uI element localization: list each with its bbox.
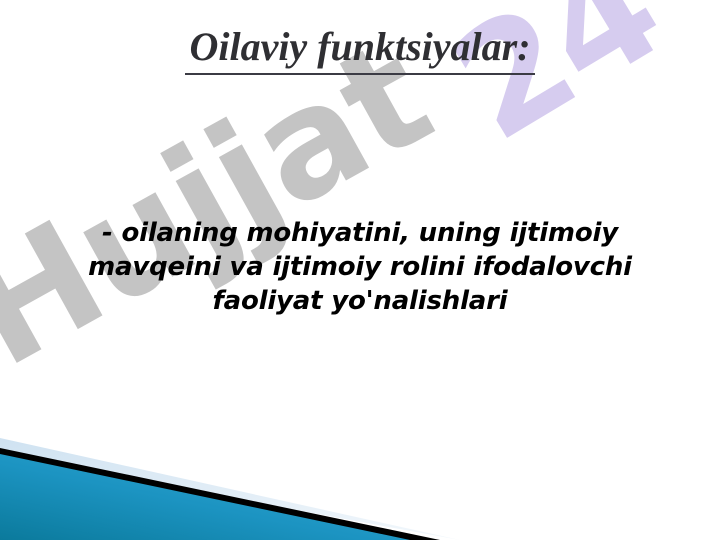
teal-triangle-shape	[0, 454, 410, 540]
slide-title: Oilaviy funktsiyalar:	[185, 26, 534, 75]
black-stripe-shape	[0, 448, 440, 540]
pale-band-shape	[0, 438, 460, 540]
presentation-slide: Hujjat 24 Oilaviy funktsiyalar: - oilani…	[0, 0, 720, 540]
slide-body-paragraph: - oilaning mohiyatini, uning ijtimoiy ma…	[60, 216, 660, 318]
corner-decoration-graphic	[0, 420, 460, 540]
slide-title-block: Oilaviy funktsiyalar:	[0, 26, 720, 75]
slide-body-block: - oilaning mohiyatini, uning ijtimoiy ma…	[60, 216, 660, 318]
